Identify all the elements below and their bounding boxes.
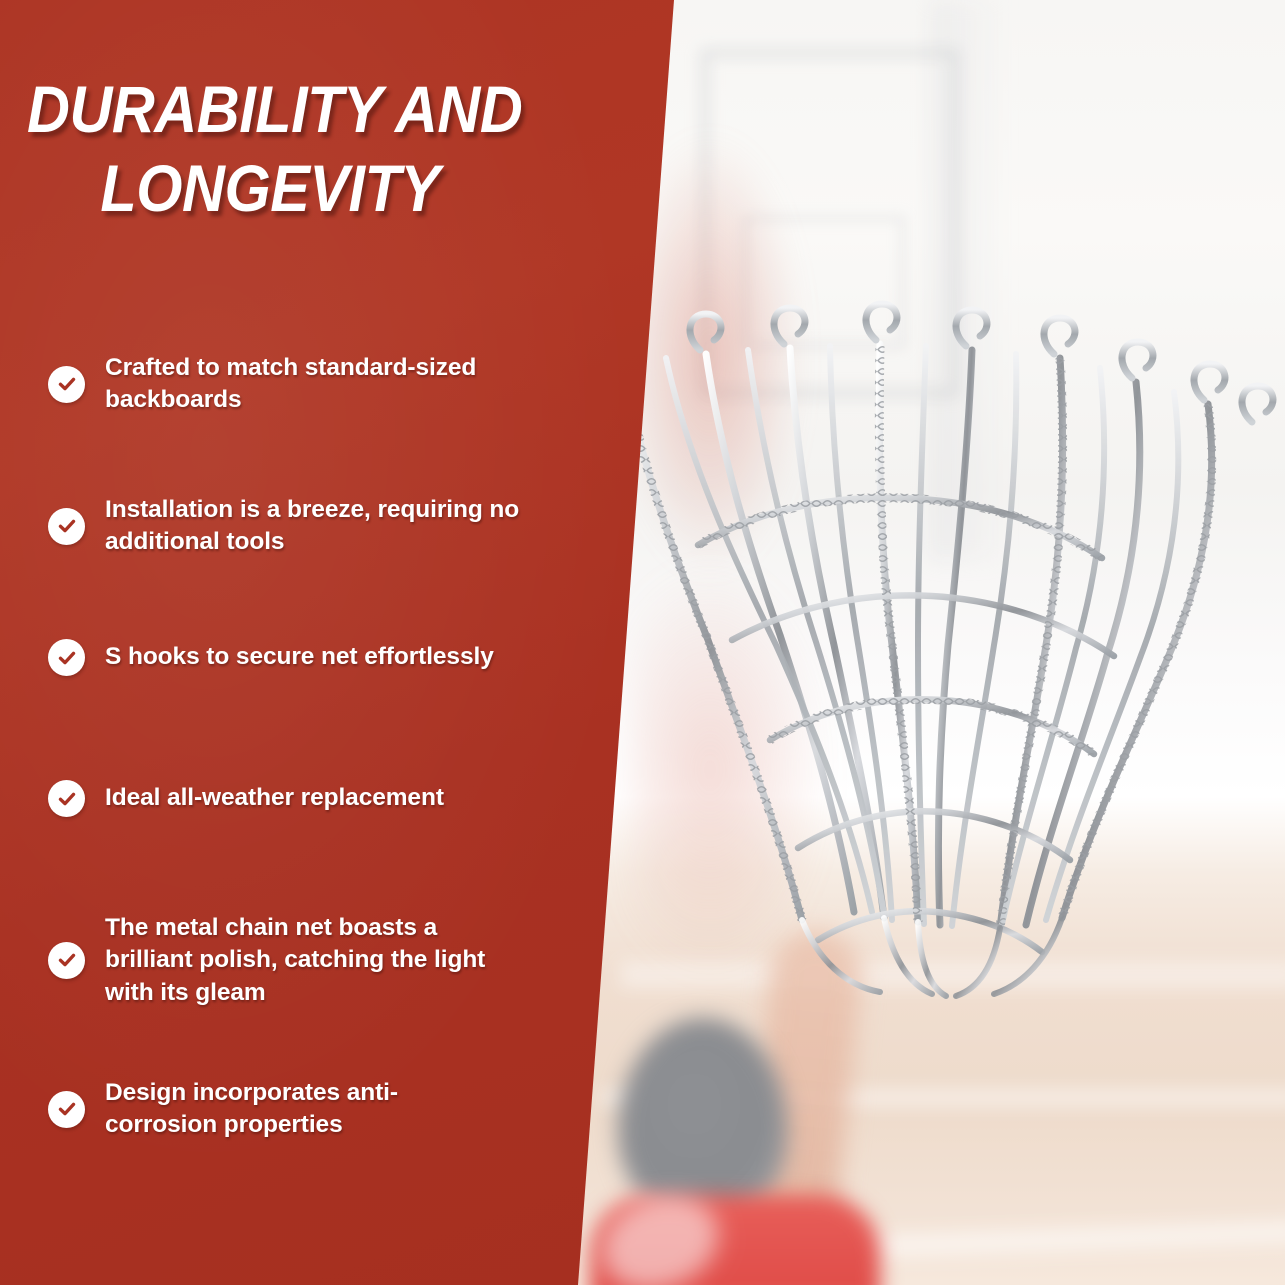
feature-text: The metal chain net boasts a brilliant p… [105, 912, 508, 1009]
feature-text: S hooks to secure net effortlessly [105, 641, 494, 673]
feature-text: Crafted to match standard-sized backboar… [105, 352, 568, 417]
check-circle-icon [48, 1091, 85, 1128]
list-item: Ideal all-weather replacement [48, 780, 568, 817]
page-title: DURABILITY AND LONGEVITY [0, 78, 540, 235]
list-item: Design incorporates anti-corrosion prope… [48, 1077, 468, 1142]
list-item: The metal chain net boasts a brilliant p… [48, 912, 508, 1009]
feature-text: Installation is a breeze, requiring no a… [105, 494, 568, 559]
check-circle-icon [48, 366, 85, 403]
list-item: Crafted to match standard-sized backboar… [48, 352, 568, 417]
s-hook-row [602, 304, 1273, 422]
title-line-2: LONGEVITY [27, 157, 513, 220]
title-line-1: DURABILITY AND [27, 78, 513, 141]
list-item: S hooks to secure net effortlessly [48, 639, 568, 676]
list-item: Installation is a breeze, requiring no a… [48, 494, 568, 559]
product-infographic: DURABILITY AND LONGEVITY Crafted to matc… [0, 0, 1285, 1285]
check-circle-icon [48, 639, 85, 676]
check-circle-icon [48, 942, 85, 979]
check-circle-icon [48, 780, 85, 817]
chain-net-graphic [580, 300, 1280, 1020]
feature-text: Ideal all-weather replacement [105, 782, 444, 814]
feature-text: Design incorporates anti-corrosion prope… [105, 1077, 468, 1142]
check-circle-icon [48, 508, 85, 545]
